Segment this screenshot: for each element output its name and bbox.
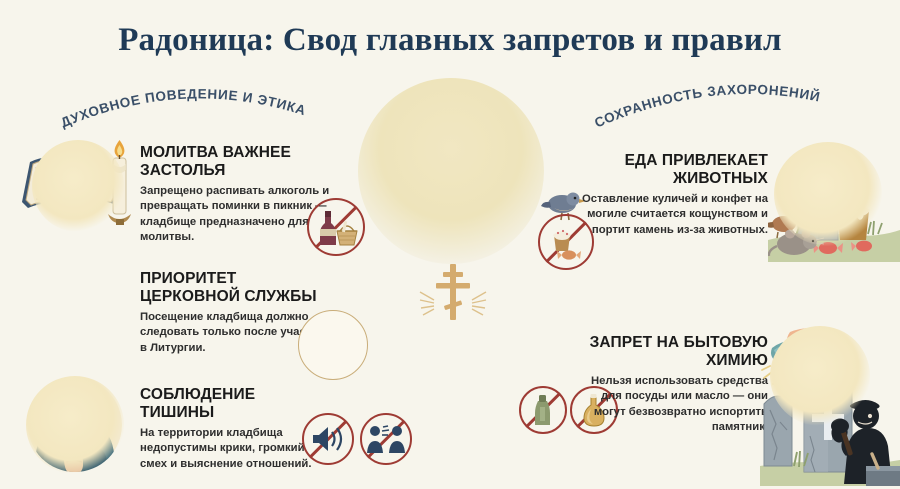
halo [774,142,882,246]
halo [32,140,124,232]
ban-contents [366,419,406,459]
block-heading: ПРИОРИТЕТ ЦЕРКОВНОЙ СЛУЖБЫ [140,270,332,305]
central-church-graveyard-illustration [358,78,544,264]
section-header-right-text: СОХРАННОСТЬ ЗАХОРОНЕНИЙ [592,82,822,131]
block-body: Нельзя использовать средства для посуды … [568,374,768,435]
block-food-attracts-animals: ЕДА ПРИВЛЕКАЕТ ЖИВОТНЫХ Оставление кулич… [578,152,768,238]
scene-disc [358,78,544,264]
orthodox-cross-icon [418,258,488,324]
woman-shush-illustration [18,368,132,482]
block-heading: МОЛИТВА ВАЖНЕЕ ЗАСТОЛЬЯ [140,144,332,179]
no-arguing-ban-icon [360,413,412,465]
halo [26,376,124,474]
block-body: Запрещено распивать алкоголь и превращат… [140,184,332,245]
page-title: Радоница: Свод главных запретов и правил [0,22,900,59]
gravestone-animals-food-illustration [768,128,900,262]
cleaning-hand-stonemason-illustration [760,326,900,486]
prayer-book-candle-illustration [14,124,136,246]
infographic-canvas: Радоница: Свод главных запретов и правил… [0,0,900,489]
chalice-praying-figure-illustration [298,310,368,380]
ban-contents [308,419,348,459]
ban-contents [525,392,561,428]
block-body: Оставление куличей и конфет на могиле сч… [578,192,768,238]
circle-frame [298,310,368,380]
no-alcohol-picnic-ban-icon [307,198,365,256]
ban-contents [313,204,359,250]
block-no-household-chemicals: ЗАПРЕТ НА БЫТОВУЮ ХИМИЮ Нельзя использов… [568,334,768,435]
block-heading: ЕДА ПРИВЛЕКАЕТ ЖИВОТНЫХ [578,152,768,187]
halo [770,326,870,426]
no-dish-detergent-ban-icon [519,386,567,434]
block-heading: ЗАПРЕТ НА БЫТОВУЮ ХИМИЮ [568,334,768,369]
no-loud-noise-ban-icon [302,413,354,465]
block-prayer-over-feast: МОЛИТВА ВАЖНЕЕ ЗАСТОЛЬЯ Запрещено распив… [140,144,332,245]
